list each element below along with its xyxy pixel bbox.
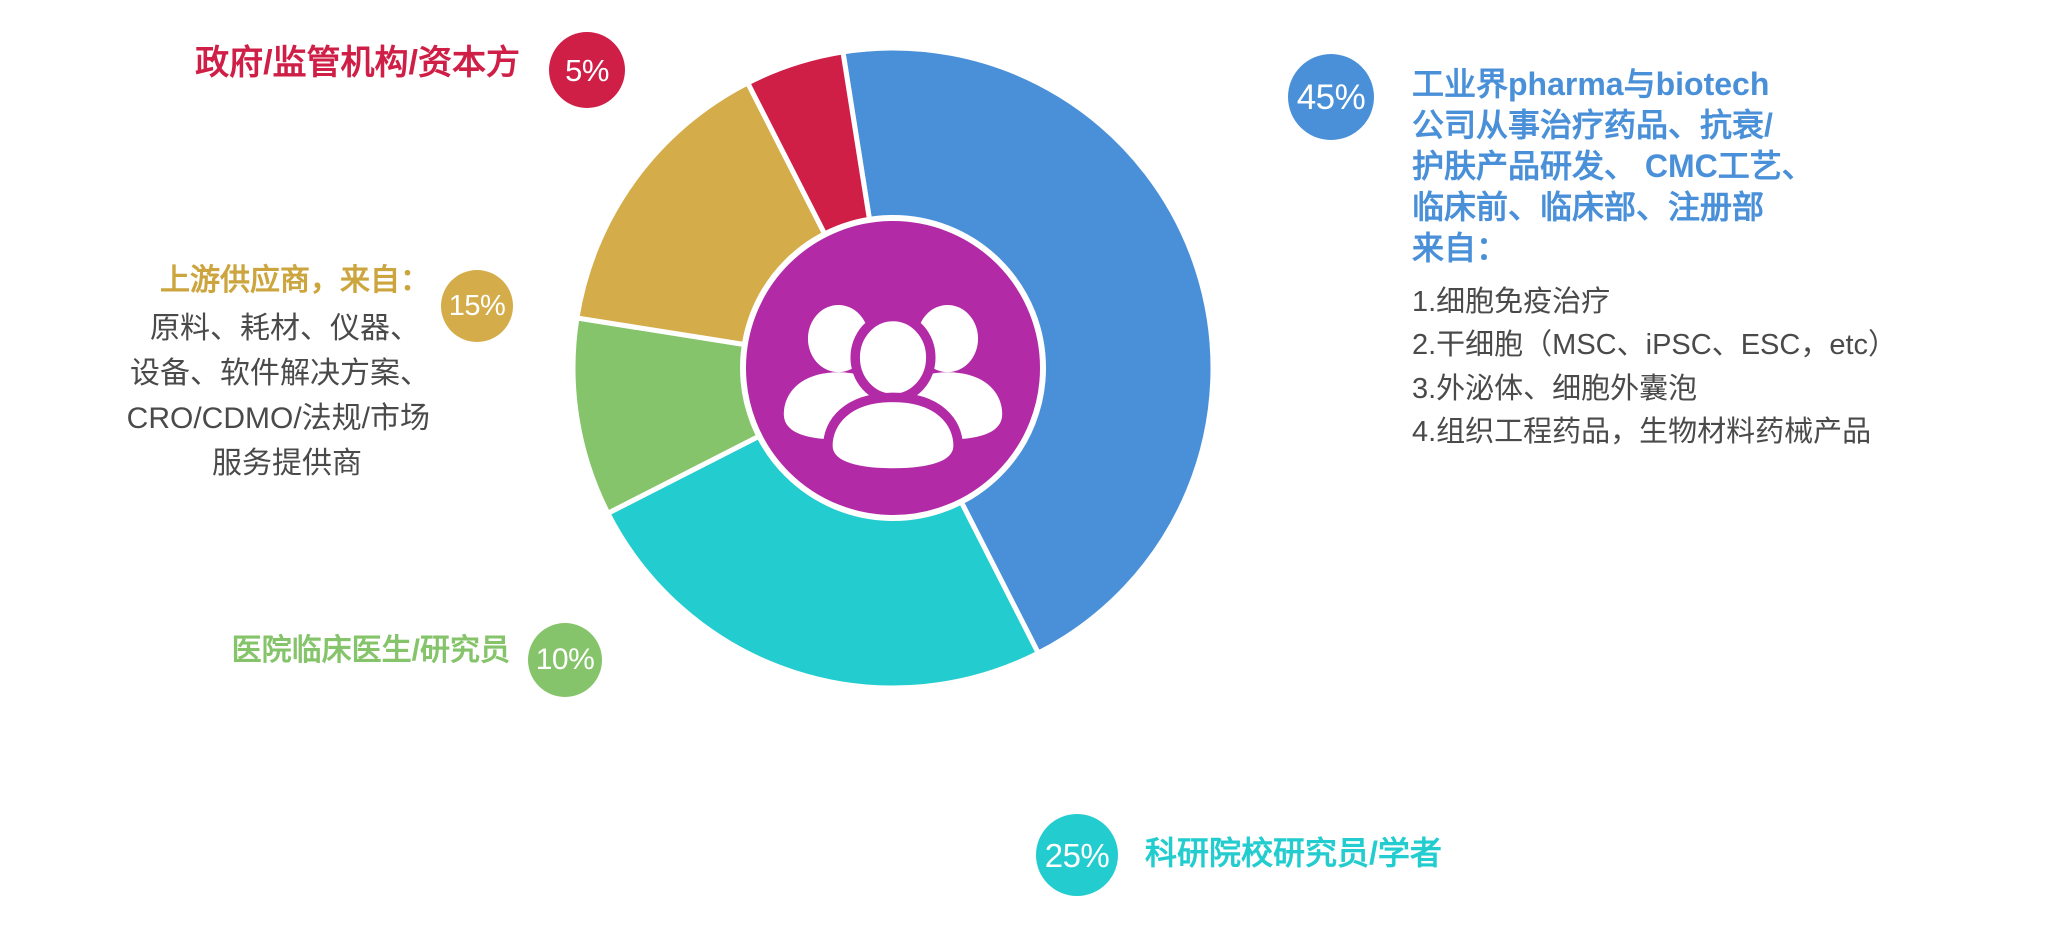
supplier-line-3: CRO/CDMO/法规/市场: [0, 396, 430, 441]
industry-title-line-4: 临床前、临床部、注册部: [1412, 187, 2062, 228]
supplier-line-1: 原料、耗材、仪器、: [0, 306, 430, 351]
badge-institute-percent: 25%: [1036, 814, 1118, 896]
segment-label-hospital: 医院临床医生/研究员: [0, 632, 510, 670]
institute-title: 科研院校研究员/学者: [1145, 833, 1442, 874]
donut-chart: [563, 38, 1223, 698]
badge-hospital-percent: 10%: [528, 623, 602, 697]
industry-title-line-5: 来自：: [1412, 228, 2062, 269]
industry-item-list: 1.细胞免疫治疗 2.干细胞（MSC、iPSC、ESC，etc） 3.外泌体、细…: [1412, 281, 2062, 455]
donut-chart-svg: [563, 38, 1223, 698]
industry-title-line-3: 护肤产品研发、 CMC工艺、: [1412, 146, 2062, 187]
badge-industry-percent: 45%: [1288, 54, 1374, 140]
segment-label-supplier: 上游供应商，来自： 原料、耗材、仪器、 设备、软件解决方案、 CRO/CDMO/…: [0, 262, 430, 486]
industry-item-1: 1.细胞免疫治疗: [1412, 281, 2062, 325]
supplier-line-4: 服务提供商: [0, 441, 430, 486]
government-title: 政府/监管机构/资本方: [0, 42, 520, 86]
industry-title-line-1: 工业界pharma与biotech: [1412, 64, 2062, 105]
industry-title-line-2: 公司从事治疗药品、抗衰/: [1412, 105, 2062, 146]
supplier-title: 上游供应商，来自：: [0, 262, 430, 300]
badge-government-percent: 5%: [549, 32, 625, 108]
segment-label-institute: 科研院校研究员/学者: [1145, 833, 1442, 874]
industry-item-4: 4.组织工程药品，生物材料药械产品: [1412, 411, 2062, 455]
industry-item-3: 3.外泌体、细胞外囊泡: [1412, 368, 2062, 412]
badge-supplier-percent: 15%: [441, 270, 513, 342]
segment-label-government: 政府/监管机构/资本方: [0, 42, 520, 86]
segment-label-industry: 工业界pharma与biotech 公司从事治疗药品、抗衰/ 护肤产品研发、 C…: [1412, 64, 2062, 455]
supplier-line-2: 设备、软件解决方案、: [0, 351, 430, 396]
industry-item-2: 2.干细胞（MSC、iPSC、ESC，etc）: [1412, 324, 2062, 368]
hospital-title: 医院临床医生/研究员: [0, 632, 510, 670]
